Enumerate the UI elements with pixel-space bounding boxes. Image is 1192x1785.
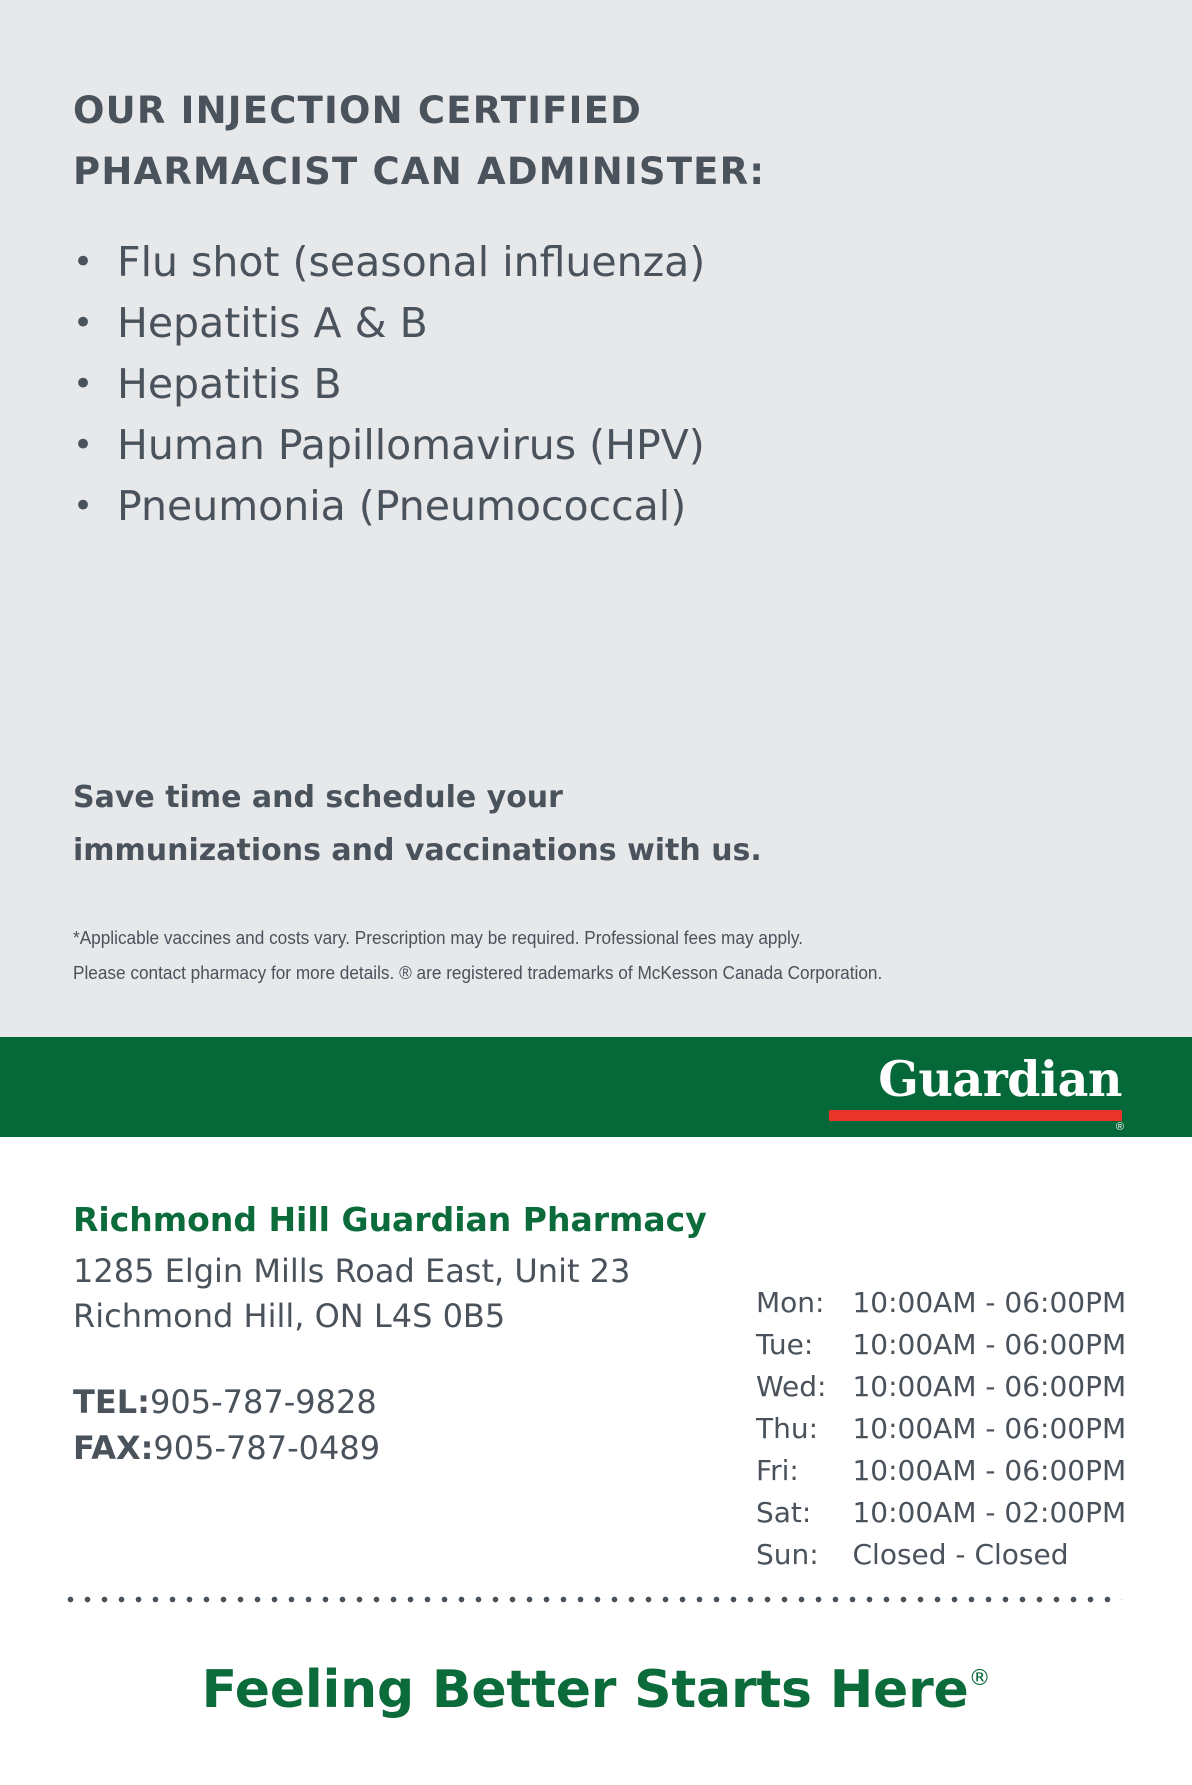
hours-day: Sun: xyxy=(756,1534,852,1576)
telephone-label: TEL: xyxy=(73,1379,150,1425)
disclaimer-line-2: Please contact pharmacy for more details… xyxy=(73,955,1050,990)
hours-day: Thu: xyxy=(756,1408,852,1450)
store-info: Richmond Hill Guardian Pharmacy 1285 Elg… xyxy=(73,1195,733,1471)
guardian-logo-wordmark: Guardian xyxy=(838,1055,1122,1104)
hours-day: Mon: xyxy=(756,1282,852,1324)
list-item: • Human Papillomavirus (HPV) xyxy=(73,415,973,476)
table-row: Sun: Closed - Closed xyxy=(756,1534,1126,1576)
list-item-label: Hepatitis A & B xyxy=(117,299,428,347)
page-title-line-2: PHARMACIST CAN ADMINISTER: xyxy=(73,141,1033,202)
services-panel: OUR INJECTION CERTIFIED PHARMACIST CAN A… xyxy=(0,0,1192,1037)
list-item: • Hepatitis B xyxy=(73,354,973,415)
guardian-logo: Guardian ® xyxy=(829,1055,1122,1121)
table-row: Wed: 10:00AM - 06:00PM xyxy=(756,1366,1126,1408)
call-to-action: Save time and schedule your immunization… xyxy=(73,771,973,877)
hours-day: Wed: xyxy=(756,1366,852,1408)
bullet-icon: • xyxy=(73,293,117,354)
hours-time: 10:00AM - 06:00PM xyxy=(852,1282,1126,1324)
list-item: • Pneumonia (Pneumococcal) xyxy=(73,476,973,537)
call-to-action-line-1: Save time and schedule your xyxy=(73,771,973,824)
registered-trademark-icon: ® xyxy=(969,1666,991,1691)
hours-time: 10:00AM - 06:00PM xyxy=(852,1366,1126,1408)
hours-time: Closed - Closed xyxy=(852,1534,1126,1576)
list-item: • Hepatitis A & B xyxy=(73,293,973,354)
bullet-icon: • xyxy=(73,415,117,476)
bullet-icon: • xyxy=(73,476,117,537)
store-address-line-1: 1285 Elgin Mills Road East, Unit 23 xyxy=(73,1249,733,1294)
table-row: Thu: 10:00AM - 06:00PM xyxy=(756,1408,1126,1450)
store-hours-table: Mon: 10:00AM - 06:00PM Tue: 10:00AM - 06… xyxy=(756,1282,1126,1576)
store-contact: TEL:905-787-9828 FAX:905-787-0489 xyxy=(73,1379,733,1471)
table-row: Fri: 10:00AM - 06:00PM xyxy=(756,1450,1126,1492)
store-address-line-2: Richmond Hill, ON L4S 0B5 xyxy=(73,1294,733,1339)
list-item-label: Flu shot (seasonal influenza) xyxy=(117,238,705,286)
store-telephone: TEL:905-787-9828 xyxy=(73,1379,733,1425)
table-row: Mon: 10:00AM - 06:00PM xyxy=(756,1282,1126,1324)
hours-day: Sat: xyxy=(756,1492,852,1534)
store-address: 1285 Elgin Mills Road East, Unit 23 Rich… xyxy=(73,1249,733,1339)
list-item: • Flu shot (seasonal influenza) xyxy=(73,232,973,293)
store-name: Richmond Hill Guardian Pharmacy xyxy=(73,1195,733,1244)
vaccine-list: • Flu shot (seasonal influenza) • Hepati… xyxy=(73,232,973,537)
bullet-icon: • xyxy=(73,232,117,293)
page-title: OUR INJECTION CERTIFIED PHARMACIST CAN A… xyxy=(73,80,1033,202)
hours-day: Tue: xyxy=(756,1324,852,1366)
table-row: Sat: 10:00AM - 02:00PM xyxy=(756,1492,1126,1534)
list-item-label: Hepatitis B xyxy=(117,360,342,408)
guardian-logo-underline xyxy=(829,1110,1122,1121)
disclaimer: *Applicable vaccines and costs vary. Pre… xyxy=(73,920,1050,990)
hours-time: 10:00AM - 06:00PM xyxy=(852,1408,1126,1450)
brand-band: Guardian ® xyxy=(0,1037,1192,1137)
telephone-value: 905-787-9828 xyxy=(150,1383,377,1421)
fax-value: 905-787-0489 xyxy=(153,1429,380,1467)
store-fax: FAX:905-787-0489 xyxy=(73,1425,733,1471)
tagline: Feeling Better Starts Here® xyxy=(0,1648,1192,1721)
fax-label: FAX: xyxy=(73,1425,153,1471)
hours-day: Fri: xyxy=(756,1450,852,1492)
registered-trademark-icon: ® xyxy=(1116,1122,1124,1133)
call-to-action-line-2: immunizations and vaccinations with us. xyxy=(73,824,973,877)
hours-time: 10:00AM - 06:00PM xyxy=(852,1450,1126,1492)
hours-time: 10:00AM - 06:00PM xyxy=(852,1324,1126,1366)
list-item-label: Pneumonia (Pneumococcal) xyxy=(117,482,686,530)
list-item-label: Human Papillomavirus (HPV) xyxy=(117,421,705,469)
disclaimer-line-1: *Applicable vaccines and costs vary. Pre… xyxy=(73,920,1050,955)
dotted-divider xyxy=(62,1596,1122,1603)
bullet-icon: • xyxy=(73,354,117,415)
hours-time: 10:00AM - 02:00PM xyxy=(852,1492,1126,1534)
tagline-text: Feeling Better Starts Here xyxy=(202,1660,969,1720)
page-title-line-1: OUR INJECTION CERTIFIED xyxy=(73,80,1033,141)
table-row: Tue: 10:00AM - 06:00PM xyxy=(756,1324,1126,1366)
